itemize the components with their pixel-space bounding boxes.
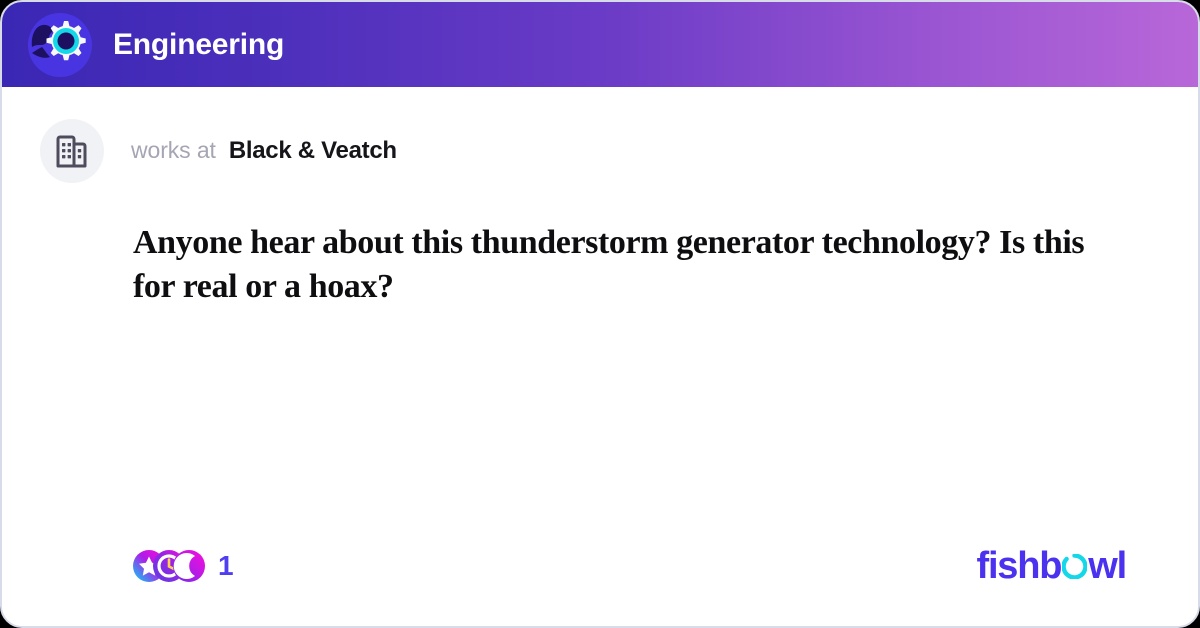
company-name: Black & Veatch — [229, 137, 397, 165]
fishbowl-logo-o-icon — [1062, 554, 1087, 579]
gear-cog-icon — [28, 13, 92, 77]
reaction-count: 1 — [218, 552, 234, 580]
header-title: Engineering — [113, 30, 284, 60]
post-card: Engineering — [0, 0, 1200, 628]
fishbowl-logo-text-before: fishb — [977, 547, 1062, 585]
card-footer: 1 fishb wl — [2, 544, 1198, 588]
office-building-icon — [40, 119, 104, 183]
works-at-label: works at — [131, 137, 216, 164]
post-text: Anyone hear about this thunderstorm gene… — [133, 221, 1120, 308]
card-header: Engineering — [2, 2, 1198, 87]
fishbowl-logo-text-after: wl — [1088, 547, 1126, 585]
author-label-group: works at Black & Veatch — [131, 137, 397, 165]
reactions-group[interactable]: 1 — [133, 550, 234, 582]
author-row: works at Black & Veatch — [40, 119, 1198, 183]
fishbowl-logo: fishb wl — [977, 547, 1127, 585]
card-body: works at Black & Veatch Anyone hear abou… — [2, 87, 1198, 626]
moon-star-reaction-icon[interactable] — [173, 550, 205, 582]
reaction-badges[interactable] — [133, 550, 205, 582]
